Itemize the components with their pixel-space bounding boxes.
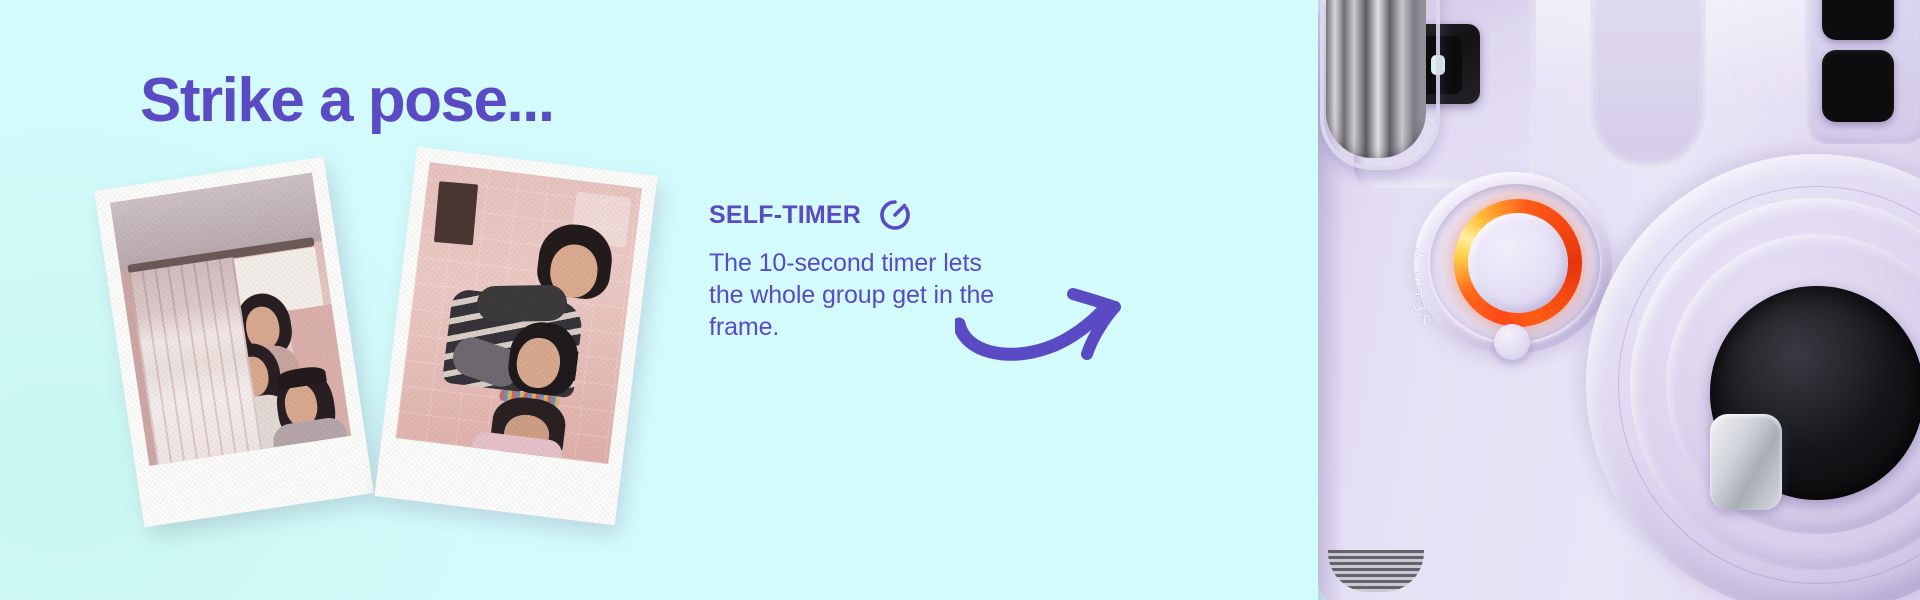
bathroom-scene-2: [396, 162, 642, 464]
bathroom-scene-1: [110, 173, 351, 466]
feature-heading-row: SELF-TIMER: [709, 193, 1009, 237]
dial-label-text: SELF TIMER: [1414, 172, 1437, 329]
polaroid-photo-2-image: [396, 162, 642, 464]
flash-lens-cover: [1320, 0, 1440, 170]
top-right-button-2[interactable]: [1822, 50, 1894, 122]
polaroid-photo-1: [94, 157, 374, 528]
instant-camera: SELF TIMER: [1318, 0, 1920, 600]
person-1-arm: [477, 285, 567, 323]
chrome-side-button[interactable]: [1710, 414, 1782, 510]
top-right-button-1[interactable]: [1822, 0, 1894, 40]
curved-arrow-icon: [955, 282, 1135, 372]
timer-icon: [873, 193, 917, 237]
banner-stage: Strike a pose...: [0, 0, 1920, 600]
polaroid-photo-1-image: [110, 173, 351, 466]
dial-label-textpath: SELF TIMER: [1414, 172, 1437, 329]
flash-housing: [1590, 0, 1706, 170]
shutter-button[interactable]: [1468, 213, 1568, 313]
page-title: Strike a pose...: [140, 70, 554, 132]
feature-title: SELF-TIMER: [709, 201, 861, 230]
polaroid-photo-2: [374, 147, 657, 526]
dark-doorway: [434, 181, 478, 245]
dial-knob[interactable]: [1494, 324, 1530, 360]
